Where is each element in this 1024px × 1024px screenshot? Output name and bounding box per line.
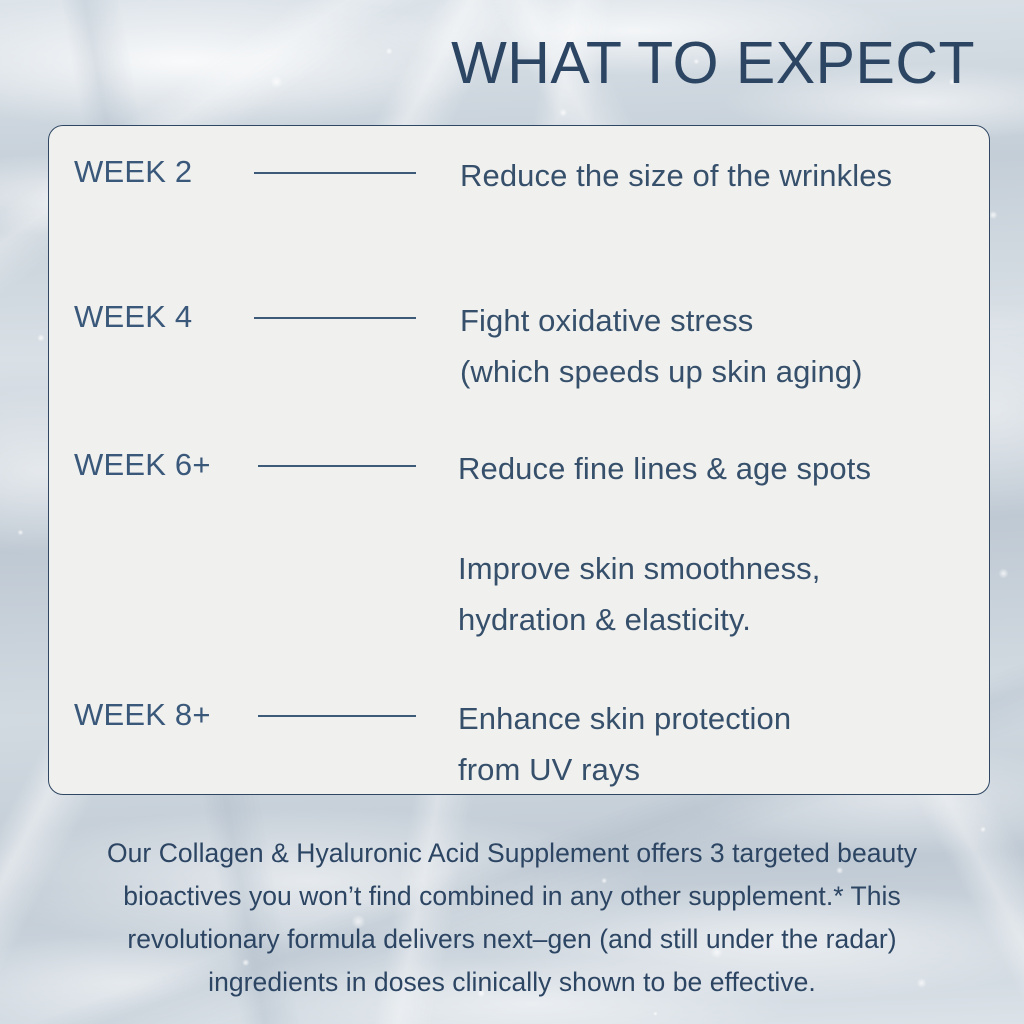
week-label: WEEK 6+: [74, 443, 254, 487]
description-line: Reduce fine lines & age spots: [458, 443, 989, 494]
week-description: Reduce fine lines & age spots Improve sk…: [458, 443, 989, 645]
week-description: Reduce the size of the wrinkles: [460, 150, 989, 201]
week-label: WEEK 2: [74, 150, 254, 194]
timeline-row: WEEK 4 Fight oxidative stress (which spe…: [49, 295, 989, 397]
timeline-row: WEEK 8+ Enhance skin protection from UV …: [49, 693, 989, 795]
week-description: Enhance skin protection from UV rays: [458, 693, 989, 795]
description-line: (which speeds up skin aging): [460, 346, 989, 397]
description-line: hydration & elasticity.: [458, 594, 989, 645]
description-line: Enhance skin protection: [458, 693, 989, 744]
description-line: Improve skin smoothness,: [458, 543, 989, 594]
description-line: Reduce the size of the wrinkles: [460, 150, 989, 201]
page-title: WHAT TO EXPECT: [451, 34, 975, 93]
timeline-card: WEEK 2 Reduce the size of the wrinkles W…: [48, 125, 990, 795]
description-line: from UV rays: [458, 744, 989, 795]
description-line: Fight oxidative stress: [460, 295, 989, 346]
week-label: WEEK 8+: [74, 693, 254, 737]
week-description: Fight oxidative stress (which speeds up …: [460, 295, 989, 397]
promo-graphic: WHAT TO EXPECT WEEK 2 Reduce the size of…: [0, 0, 1024, 1024]
footer-line: Our Collagen & Hyaluronic Acid Supplemen…: [26, 832, 998, 875]
timeline-row: WEEK 6+ Reduce fine lines & age spots Im…: [49, 443, 989, 645]
footer-line: ingredients in doses clinically shown to…: [26, 961, 998, 1004]
connector-line: [258, 715, 416, 717]
connector-line: [258, 465, 416, 467]
connector-line: [254, 317, 416, 319]
footer-line: revolutionary formula delivers next–gen …: [26, 918, 998, 961]
footer-line: bioactives you won’t find combined in an…: [26, 875, 998, 918]
week-label: WEEK 4: [74, 295, 254, 339]
connector-line: [254, 172, 416, 174]
timeline-row: WEEK 2 Reduce the size of the wrinkles: [49, 150, 989, 201]
timeline-rows: WEEK 2 Reduce the size of the wrinkles W…: [49, 126, 989, 794]
footer-paragraph: Our Collagen & Hyaluronic Acid Supplemen…: [26, 832, 998, 1004]
